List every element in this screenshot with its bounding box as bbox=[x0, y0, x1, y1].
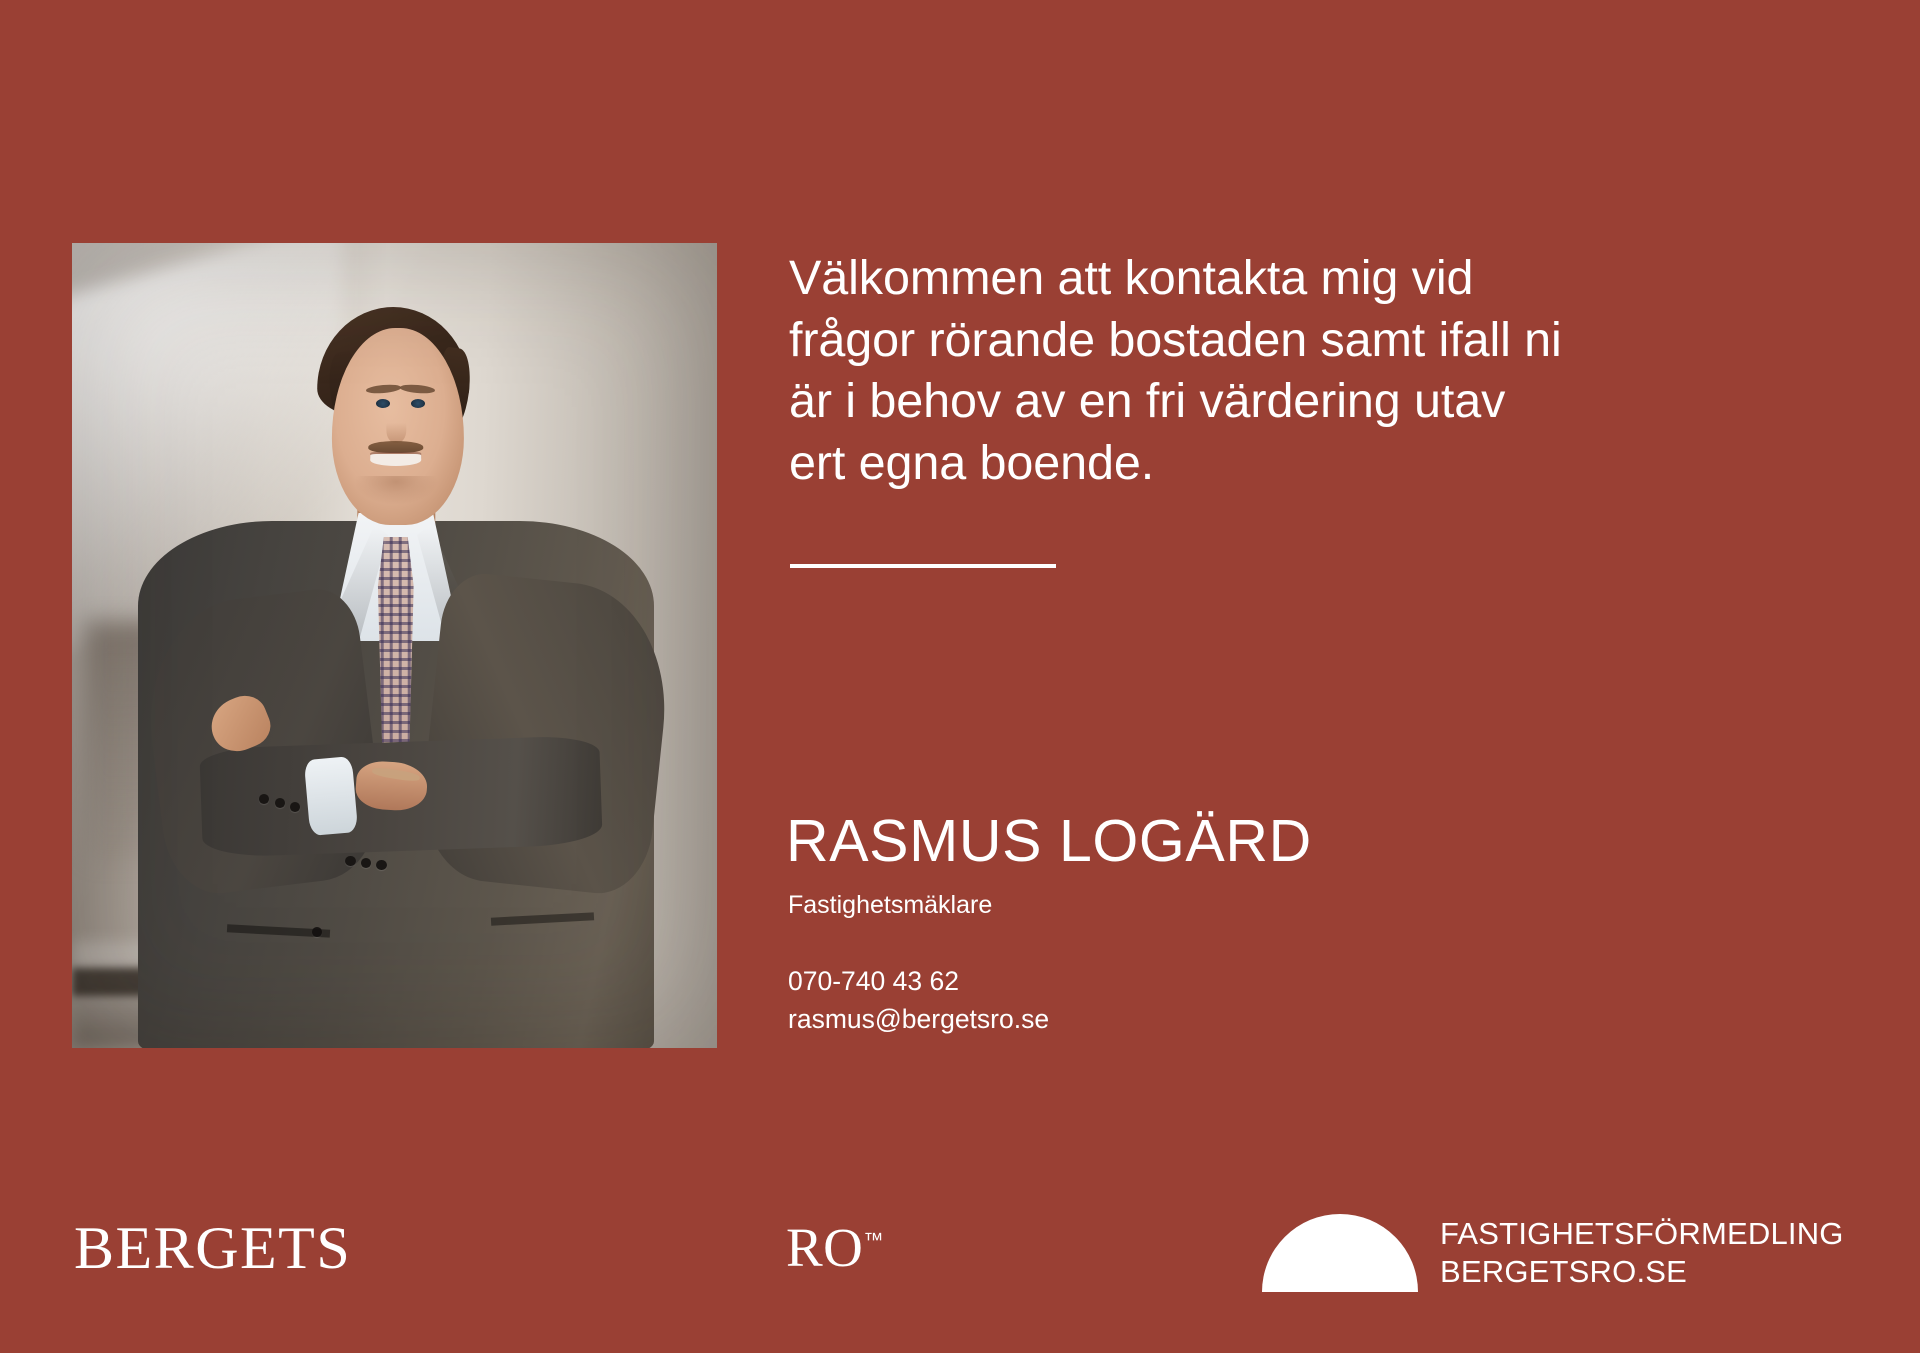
person-figure bbox=[72, 243, 717, 1048]
headline-text: Välkommen att kontakta mig vid frågor rö… bbox=[789, 248, 1809, 494]
portrait-image bbox=[72, 243, 717, 1048]
agent-portrait bbox=[72, 243, 717, 1048]
agent-name: RASMUS LOGÄRD bbox=[786, 812, 1312, 871]
agent-role: Fastighetsmäklare bbox=[788, 893, 992, 918]
nose bbox=[387, 414, 406, 443]
footer-logo: FASTIGHETSFÖRMEDLING BERGETSRO.SE bbox=[1262, 1214, 1844, 1292]
moustache bbox=[368, 441, 423, 453]
sleeve-button bbox=[275, 798, 285, 808]
chin-shadow bbox=[354, 476, 438, 504]
sleeve-button bbox=[290, 802, 300, 812]
agent-phone[interactable]: 070-740 43 62 bbox=[788, 962, 1049, 1000]
brand-wordmark-bergets: BERGETS bbox=[74, 1218, 351, 1278]
agent-contact: 070-740 43 62 rasmus@bergetsro.se bbox=[788, 962, 1049, 1038]
shirt-cuff bbox=[304, 756, 359, 836]
brand-ro-text: RO bbox=[786, 1217, 863, 1278]
sleeve-button bbox=[376, 860, 386, 870]
footer-logo-text: FASTIGHETSFÖRMEDLING BERGETSRO.SE bbox=[1440, 1215, 1844, 1292]
mouth bbox=[370, 454, 422, 466]
footer-logo-line2[interactable]: BERGETSRO.SE bbox=[1440, 1253, 1844, 1291]
footer-logo-line1: FASTIGHETSFÖRMEDLING bbox=[1440, 1215, 1844, 1253]
contact-card: Välkommen att kontakta mig vid frågor rö… bbox=[0, 0, 1920, 1353]
trademark-icon: ™ bbox=[863, 1230, 883, 1252]
sleeve-button bbox=[259, 794, 269, 804]
brand-wordmark-ro: RO™ bbox=[786, 1220, 883, 1275]
half-dome-icon bbox=[1262, 1214, 1418, 1292]
agent-email[interactable]: rasmus@bergetsro.se bbox=[788, 1000, 1049, 1038]
divider-rule bbox=[790, 564, 1056, 568]
